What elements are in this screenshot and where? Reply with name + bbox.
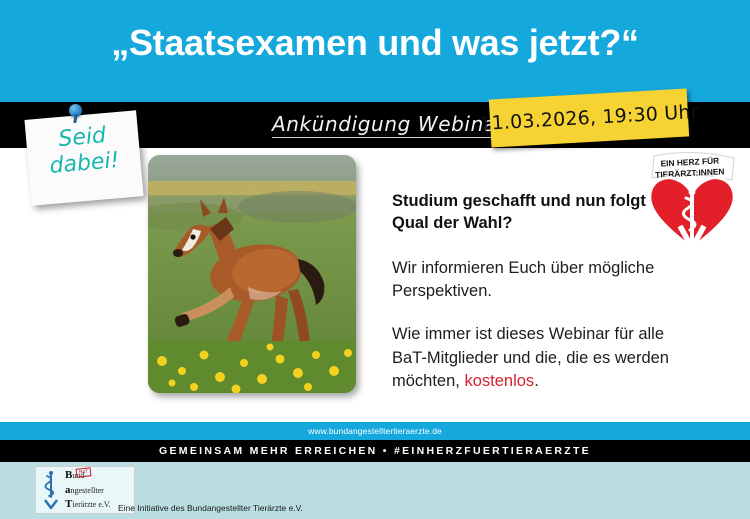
claim-bar: GEMEINSAM MEHR ERREICHEN • #EINHERZFUERT… [0,440,750,462]
date-badge-label: 11.03.2026, 19:30 Uhr [479,101,700,135]
sticky-note: Seid dabei! [24,110,143,205]
page-title: „Staatsexamen und was jetzt?“ [0,22,750,64]
pushpin-icon [69,104,82,117]
bat-logo-line-tieraerzte: Tierärzte e.V. [65,497,111,512]
asclepius-staff-icon [40,470,62,510]
announcement-label: Ankündigung Webinar [272,112,506,138]
title-band: „Staatsexamen und was jetzt?“ [0,0,750,102]
copy-free-highlight: kostenlos [464,372,534,390]
sticky-note-text: Seid dabei! [25,120,141,181]
foal-photo [148,155,356,393]
claim-text: GEMEINSAM MEHR ERREICHEN • #EINHERZFUERT… [0,440,750,462]
website-url: www.bundangestelltertieraerzte.de [0,422,750,440]
initiative-caption: Eine Initiative des Bundangestellter Tie… [118,503,303,513]
copy-paragraph-2: Wie immer ist dieses Webinar für alle Ba… [392,323,692,393]
heart-badge: EIN HERZ FÜR TIERÄRZT:INNEN [640,148,744,254]
bat-logo-t-rest: ierärzte e.V. [72,500,110,509]
copy-paragraph-1: Wir informieren Euch über mögliche Persp… [392,257,692,304]
website-strip: www.bundangestelltertieraerzte.de [0,422,750,440]
webinar-poster: „Staatsexamen und was jetzt?“ Ankündigun… [0,0,750,519]
bat-logo-stamp: BaT [76,467,92,478]
copy-paragraph-2-after: . [534,372,539,390]
bat-logo-a-rest: ngestellter [71,486,104,495]
bat-logo-line-angestellter: angestellter [65,483,111,498]
